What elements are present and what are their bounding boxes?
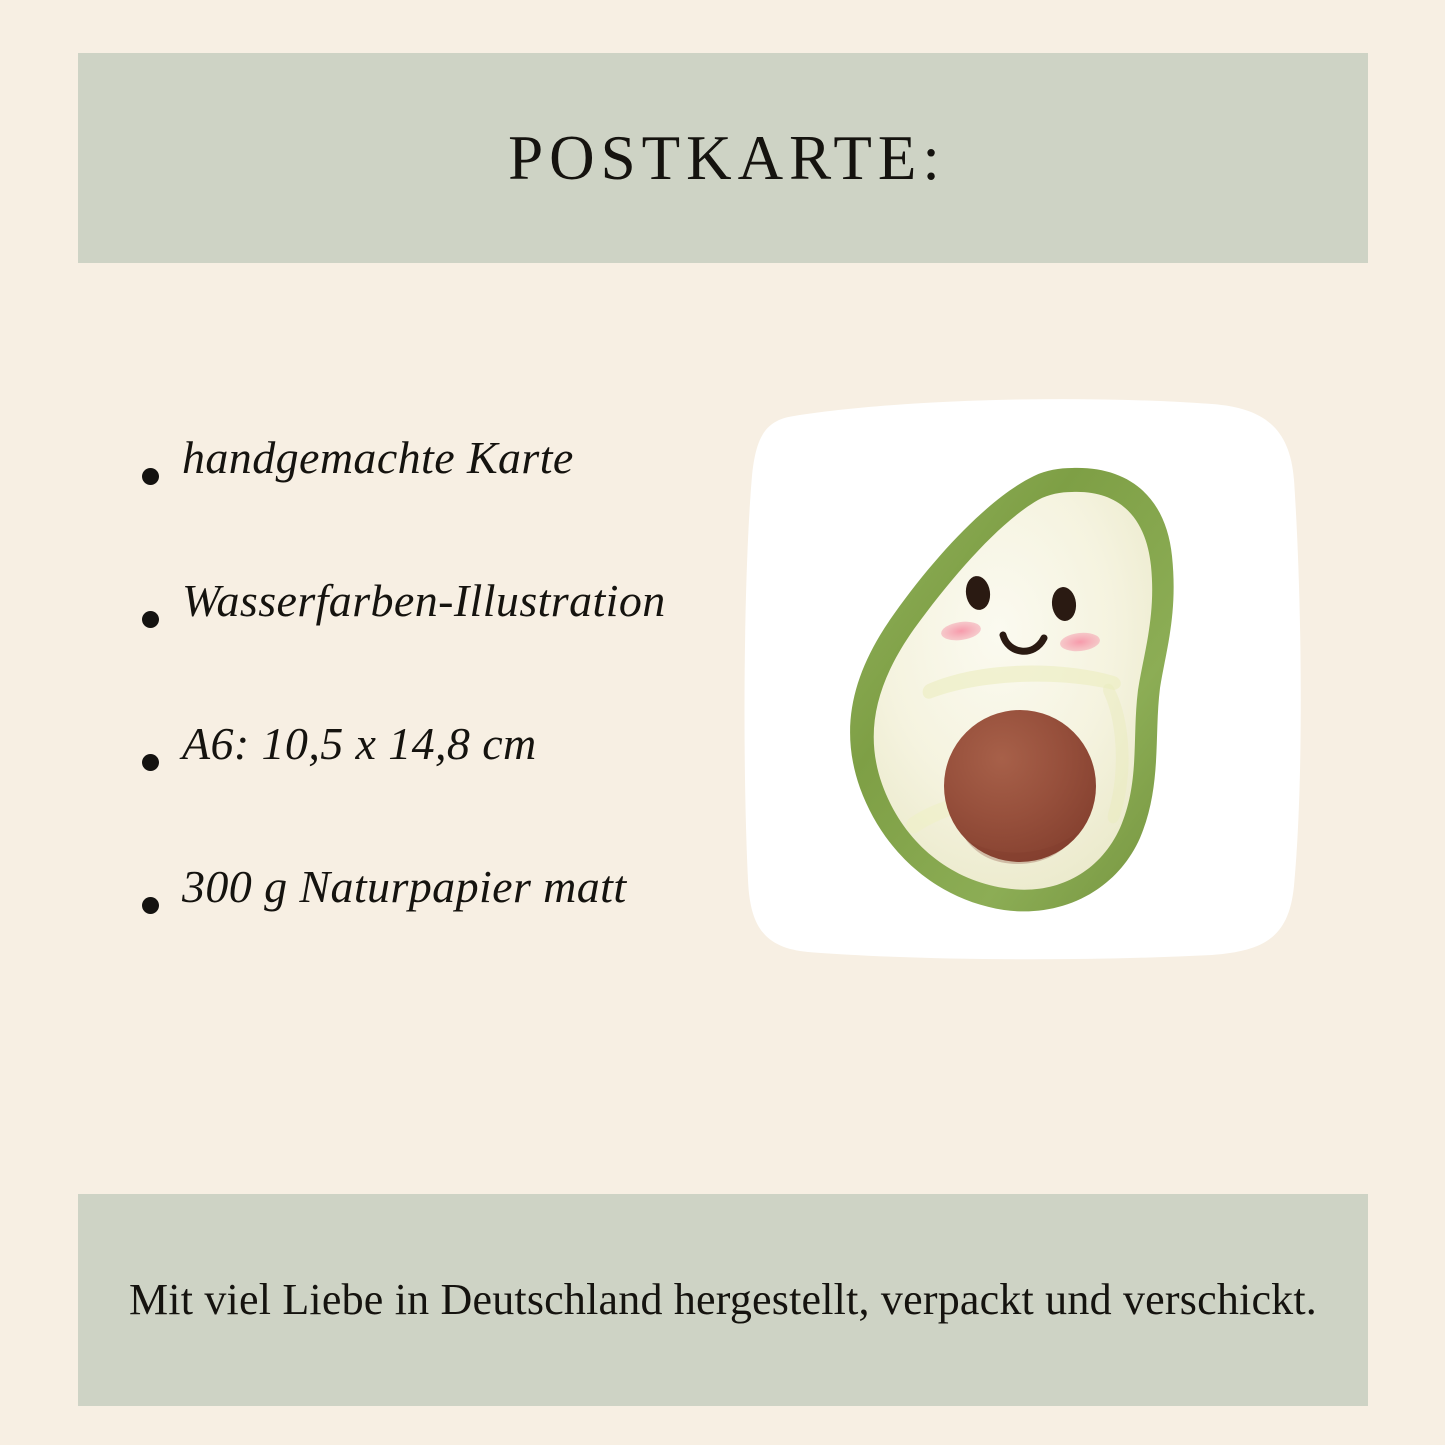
top-banner: POSTKARTE: [78, 53, 1368, 263]
bullet-dot-icon [142, 468, 159, 485]
feature-label: 300 g Naturpapier matt [182, 861, 627, 914]
footer-text: Mit viel Liebe in Deutschland hergestell… [78, 1194, 1368, 1406]
avocado-illustration-svg [742, 388, 1318, 964]
bottom-banner: Mit viel Liebe in Deutschland hergestell… [78, 1194, 1368, 1406]
list-item: 300 g Naturpapier matt [130, 861, 770, 1004]
bullet-dot-icon [142, 897, 159, 914]
feature-list: handgemachte Karte Wasserfarben-Illustra… [130, 432, 770, 1004]
list-item: A6: 10,5 x 14,8 cm [130, 718, 770, 861]
postcard-product-infographic: POSTKARTE: handgemachte Karte Wasserfarb… [0, 0, 1445, 1445]
avocado-pit [944, 710, 1096, 862]
list-item: handgemachte Karte [130, 432, 770, 575]
feature-label: Wasserfarben-Illustration [182, 575, 666, 628]
page-title: POSTKARTE: [78, 53, 1368, 263]
avocado-illustration-card [742, 388, 1318, 964]
bullet-dot-icon [142, 754, 159, 771]
bullet-dot-icon [142, 611, 159, 628]
feature-label: handgemachte Karte [182, 432, 574, 485]
feature-label: A6: 10,5 x 14,8 cm [182, 718, 537, 771]
list-item: Wasserfarben-Illustration [130, 575, 770, 718]
